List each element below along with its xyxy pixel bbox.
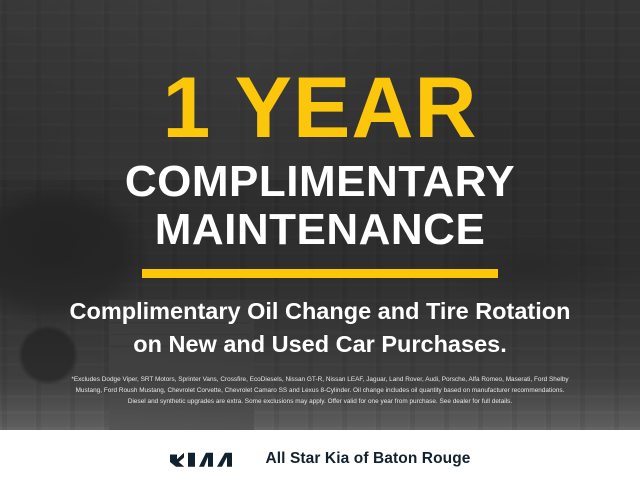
dealer-name: All Star Kia of Baton Rouge	[265, 450, 470, 468]
footer-bar: All Star Kia of Baton Rouge	[0, 430, 640, 488]
disclaimer-line-2: Mustang, Ford Roush Mustang, Chevrolet C…	[14, 386, 626, 397]
hero-content: 1 YEAR COMPLIMENTARY MAINTENANCE Complim…	[0, 0, 640, 430]
subheadline-line-1: Complimentary Oil Change and Tire Rotati…	[70, 296, 571, 327]
subheadline-line-2: on New and Used Car Purchases.	[133, 329, 507, 360]
promotional-banner: 1 YEAR COMPLIMENTARY MAINTENANCE Complim…	[0, 0, 640, 488]
yellow-divider-bar	[142, 269, 498, 278]
headline-year: 1 YEAR	[162, 72, 477, 146]
disclaimer-text: *Excludes Dodge Viper, SRT Motors, Sprin…	[14, 375, 626, 408]
hero-section: 1 YEAR COMPLIMENTARY MAINTENANCE Complim…	[0, 0, 640, 430]
disclaimer-line-1: *Excludes Dodge Viper, SRT Motors, Sprin…	[14, 375, 626, 386]
disclaimer-line-3: Diesel and synthetic upgrades are extra.…	[14, 397, 626, 408]
headline-maintenance: MAINTENANCE	[155, 208, 486, 252]
headline-complimentary: COMPLIMENTARY	[125, 160, 515, 204]
kia-logo	[169, 450, 243, 469]
